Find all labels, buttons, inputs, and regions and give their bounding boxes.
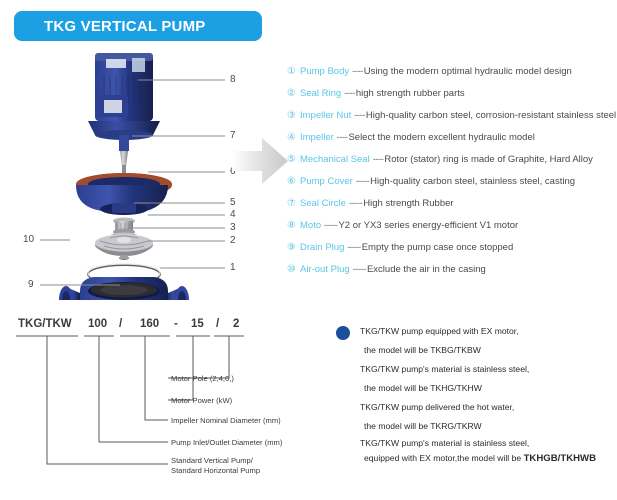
- impeller-nut-part: [119, 255, 129, 260]
- note-final-model: TKHGB/TKHWB: [524, 453, 596, 464]
- legend-number: ⑩: [287, 264, 300, 275]
- callout-number-4: 4: [230, 209, 236, 220]
- note-line: the model will be TKRG/TKRW: [336, 417, 617, 436]
- legend-item: ⑤ Mechanical Seal ---- Rotor (stator) ri…: [287, 148, 617, 170]
- note-final-prefix: equipped with EX motor,the model will be: [364, 453, 524, 463]
- code-segment-power: 15: [191, 318, 204, 330]
- legend-item: ⑨ Drain Plug ----- Empty the pump case o…: [287, 236, 617, 258]
- legend-item: ③ Impeller Nut ---- High-quality carbon …: [287, 104, 617, 126]
- legend-item: ④ Impeller ---- Select the modern excell…: [287, 126, 617, 148]
- legend-description: Y2 or YX3 series energy-efficient V1 mot…: [338, 220, 518, 231]
- legend-description: High strength Rubber: [363, 198, 453, 209]
- legend-dash: ----: [344, 88, 355, 99]
- code-segment-series: TKG/TKW: [18, 318, 72, 330]
- legend-dash: ----: [354, 110, 365, 121]
- legend-dash: ----: [352, 66, 363, 77]
- note-line: TKG/TKW pump's material is stainless ste…: [336, 360, 617, 379]
- leader-label-impeller-dia: Impeller Nominal Diameter (mm): [171, 416, 281, 425]
- callout-number-3: 3: [230, 222, 236, 233]
- right-arrow-icon: [232, 136, 288, 186]
- legend-dash: -----: [324, 220, 337, 231]
- code-segment-impeller: 160: [140, 318, 159, 330]
- legend-dash: -----: [347, 242, 360, 253]
- leader-label-motor-power: Motor Power (kW): [171, 396, 233, 405]
- callout-number-9: 9: [28, 279, 34, 290]
- code-separator-1: /: [119, 318, 123, 330]
- callout-number-8: 8: [230, 74, 236, 85]
- code-separator-3: /: [216, 318, 220, 330]
- legend-item: ② Seal Ring ---- high strength rubber pa…: [287, 82, 617, 104]
- legend-part-label: Pump Body: [300, 66, 349, 77]
- callout-number-10: 10: [23, 234, 34, 245]
- legend-description: high strength rubber parts: [356, 88, 465, 99]
- page-title-banner: TKG VERTICAL PUMP: [14, 11, 262, 41]
- legend-dash: -----: [356, 176, 369, 187]
- legend-item: ① Pump Body ---- Using the modern optima…: [287, 60, 617, 82]
- legend-part-label: Air-out Plug: [300, 264, 350, 275]
- callout-number-2: 2: [230, 235, 236, 246]
- shaft-part: [119, 135, 129, 177]
- legend-number: ⑤: [287, 154, 300, 165]
- legend-description: Exclude the air in the casing: [367, 264, 486, 275]
- impeller-part: [95, 235, 153, 257]
- legend-number: ⑧: [287, 220, 300, 231]
- legend-number: ⑨: [287, 242, 300, 253]
- legend-part-label: Seal Circle: [300, 198, 346, 209]
- note-line-final: equipped with EX motor,the model will be…: [336, 451, 617, 466]
- legend-number: ①: [287, 66, 300, 77]
- legend-dash: -----: [349, 198, 362, 209]
- model-variant-notes: TKG/TKW pump equipped with EX motor, the…: [336, 322, 617, 466]
- legend-part-label: Seal Ring: [300, 88, 341, 99]
- legend-number: ②: [287, 88, 300, 99]
- motor-part: [88, 53, 160, 140]
- legend-number: ⑥: [287, 176, 300, 187]
- code-separator-2: -: [174, 318, 178, 330]
- legend-part-label: Mechanical Seal: [300, 154, 370, 165]
- parts-legend-list: ① Pump Body ---- Using the modern optima…: [287, 60, 617, 280]
- code-segment-pole: 2: [233, 318, 239, 330]
- note-line: TKG/TKW pump's material is stainless ste…: [336, 436, 617, 451]
- legend-item: ⑩ Air-out Plug ----- Exclude the air in …: [287, 258, 617, 280]
- legend-number: ④: [287, 132, 300, 143]
- legend-description: Empty the pump case once stopped: [362, 242, 514, 253]
- callout-number-1: 1: [230, 262, 236, 273]
- pump-cover-part: [76, 173, 172, 215]
- note-line: TKG/TKW pump equipped with EX motor,: [336, 322, 617, 341]
- leader-label-motor-pole: Motor Pole (2,4,6,): [171, 374, 234, 383]
- legend-description: Rotor (stator) ring is made of Graphite,…: [384, 154, 593, 165]
- legend-number: ⑦: [287, 198, 300, 209]
- legend-number: ③: [287, 110, 300, 121]
- legend-part-label: Impeller Nut: [300, 110, 351, 121]
- legend-description: Select the modern excellent hydraulic mo…: [348, 132, 534, 143]
- legend-description: High-quality carbon steel, corrosion-res…: [366, 110, 616, 121]
- product-spec-page: TKG VERTICAL PUMP: [0, 0, 617, 500]
- leader-label-standard-horiz: Standard Horizontal Pump: [171, 466, 260, 475]
- page-title: TKG VERTICAL PUMP: [14, 18, 205, 35]
- legend-item: ⑧ Moto ----- Y2 or YX3 series energy-eff…: [287, 214, 617, 236]
- legend-description: Using the modern optimal hydraulic model…: [364, 66, 572, 77]
- legend-dash: -----: [353, 264, 366, 275]
- note-line: TKG/TKW pump delivered the hot water,: [336, 398, 617, 417]
- model-code-breakdown: TKG/TKW 100 / 160 - 15 / 2: [0, 305, 330, 500]
- legend-part-label: Pump Cover: [300, 176, 353, 187]
- legend-dash: ----: [373, 154, 384, 165]
- legend-part-label: Moto: [300, 220, 321, 231]
- legend-description: High-quality carbon steel, stainless ste…: [370, 176, 575, 187]
- legend-dash: ----: [337, 132, 348, 143]
- leader-label-standard-vert: Standard Vertical Pump/: [171, 456, 254, 465]
- exploded-pump-diagram: 8 7 6 5 4 3 2 1 10 9: [20, 45, 265, 300]
- callout-number-5: 5: [230, 197, 236, 208]
- note-line: the model will be TKBG/TKBW: [336, 341, 617, 360]
- note-line: the model will be TKHG/TKHW: [336, 379, 617, 398]
- code-segment-inlet: 100: [88, 318, 107, 330]
- leader-label-inlet-dia: Pump Inlet/Outlet Diameter (mm): [171, 438, 283, 447]
- bullet-dot-icon: [336, 326, 350, 340]
- pump-body-part: [59, 277, 189, 300]
- legend-part-label: Impeller: [300, 132, 334, 143]
- legend-item: ⑥ Pump Cover ----- High-quality carbon s…: [287, 170, 617, 192]
- legend-item: ⑦ Seal Circle ----- High strength Rubber: [287, 192, 617, 214]
- legend-part-label: Drain Plug: [300, 242, 344, 253]
